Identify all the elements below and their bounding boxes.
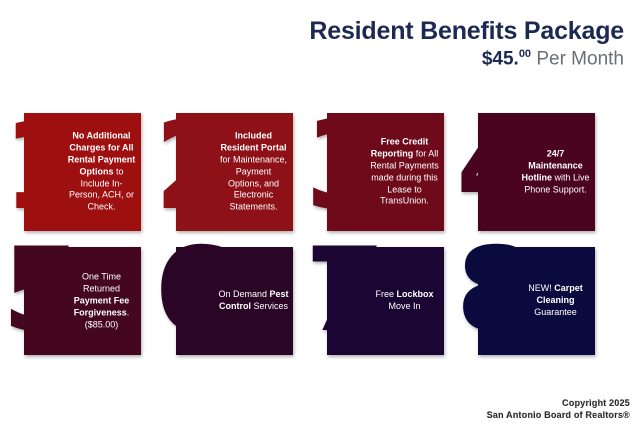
copyright-footer: Copyright 2025 San Antonio Board of Real… [487,397,630,421]
card-text: NEW! Carpet Cleaning Guarantee [520,283,591,319]
price-suffix: Per Month [531,49,624,70]
card-text: Included Resident Portal for Maintenance… [218,130,289,213]
benefit-card-4: 424/7 Maintenance Hotline with Live Phon… [456,113,595,231]
benefit-card-3: 3Free Credit Reporting for All Rental Pa… [305,113,444,231]
card-text: Free Credit Reporting for All Rental Pay… [369,136,440,207]
price-cents: 00 [519,48,531,60]
card-text: No Additional Charges for All Rental Pay… [66,130,137,213]
benefit-card-2: 2Included Resident Portal for Maintenanc… [154,113,293,231]
copyright-line-2: San Antonio Board of Realtors® [487,409,630,421]
copyright-line-1: Copyright 2025 [487,397,630,409]
infographic-canvas: Resident Benefits Package $45.00 Per Mon… [0,0,640,427]
benefit-card-8: 8NEW! Carpet Cleaning Guarantee [456,247,595,355]
benefit-card-7: 7Free Lockbox Move In [305,247,444,355]
card-text: Free Lockbox Move In [369,289,440,313]
page-title: Resident Benefits Package [309,18,624,44]
header: Resident Benefits Package $45.00 Per Mon… [309,18,624,70]
price-line: $45.00 Per Month [309,49,624,69]
benefit-card-6: 6On Demand Pest Control Services [154,247,293,355]
price-amount: $45. [482,49,519,70]
card-text: 24/7 Maintenance Hotline with Live Phone… [520,148,591,196]
benefit-card-5: 5One Time Returned Payment Fee Forgivene… [2,247,141,355]
benefit-card-1: 1No Additional Charges for All Rental Pa… [2,113,141,231]
card-text: One Time Returned Payment Fee Forgivenes… [66,271,137,330]
card-text: On Demand Pest Control Services [218,289,289,313]
